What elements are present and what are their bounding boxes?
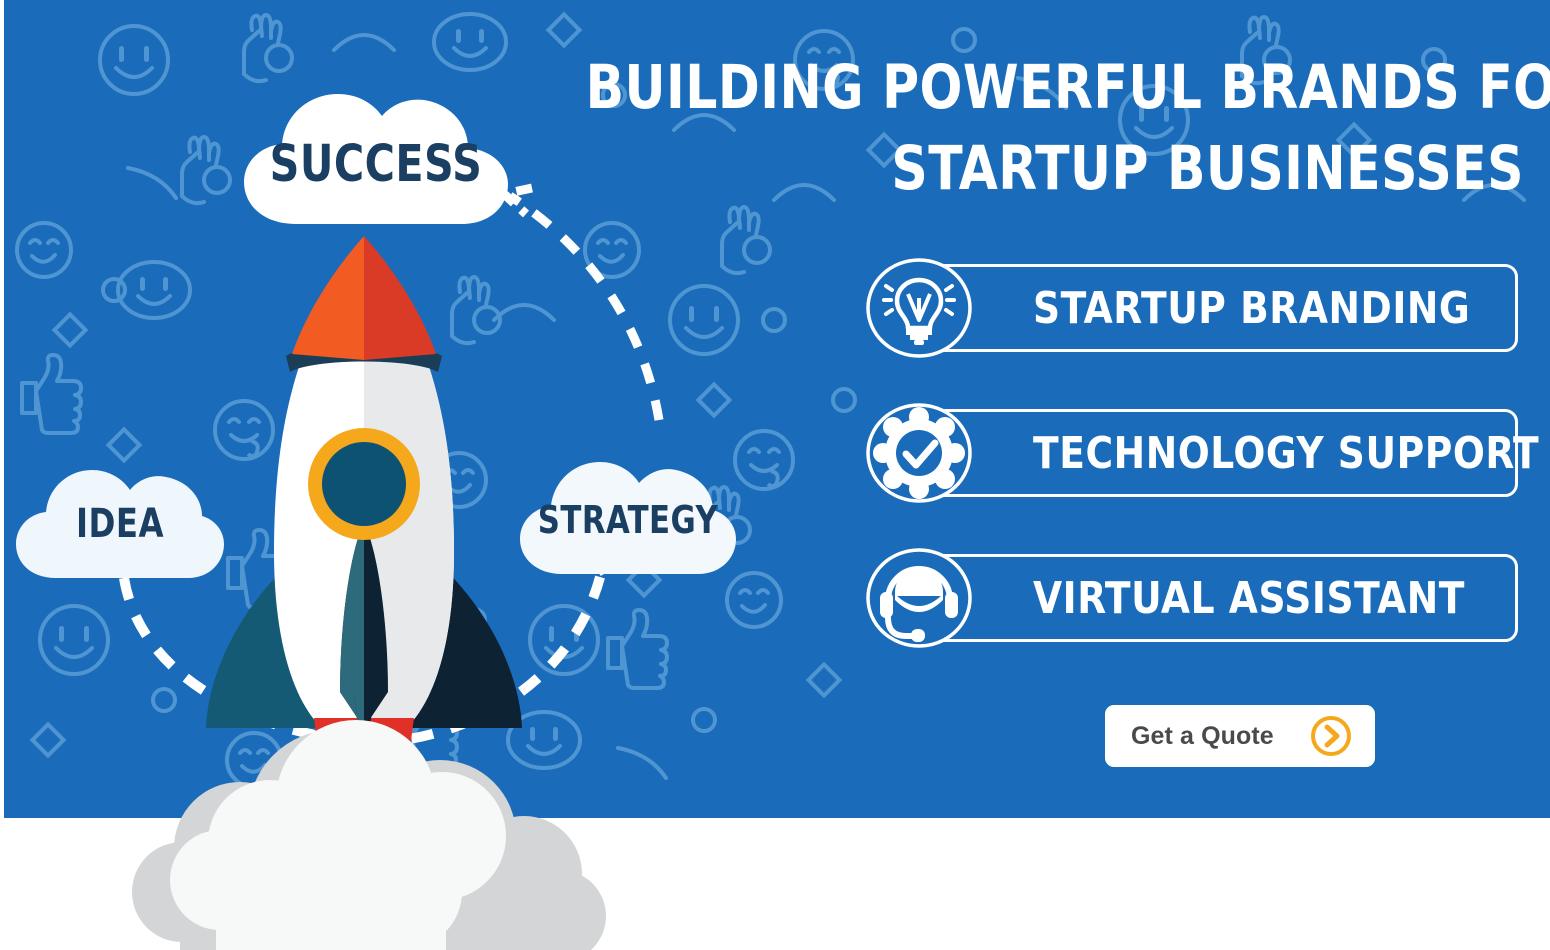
cloud-label-strategy: STRATEGY	[516, 444, 740, 586]
service-label: STARTUP BRANDING	[1033, 258, 1469, 358]
gear-check-icon	[858, 403, 980, 503]
get-a-quote-label: Get a Quote	[1131, 722, 1274, 751]
headset-icon	[858, 548, 980, 648]
cloud-label-text: SUCCESS	[254, 76, 499, 238]
headline-line-1: BUILDING POWERFUL BRANDS FOR	[586, 48, 1524, 129]
marketing-banner: SUCCESS IDEA STRATEGY	[0, 0, 1550, 950]
service-item-virtual-assistant[interactable]: VIRTUAL ASSISTANT	[858, 548, 1518, 648]
cloud-label-success: SUCCESS	[240, 76, 512, 238]
service-label: TECHNOLOGY SUPPORT	[1033, 403, 1469, 503]
service-label: VIRTUAL ASSISTANT	[1033, 548, 1469, 648]
service-item-startup-branding[interactable]: STARTUP BRANDING	[858, 258, 1518, 358]
chevron-right-circle-icon[interactable]	[1309, 714, 1353, 758]
get-a-quote-button[interactable]: Get a Quote	[1105, 705, 1375, 767]
lightbulb-icon	[858, 258, 980, 358]
page-title: BUILDING POWERFUL BRANDS FOR STARTUP BUS…	[586, 48, 1524, 209]
rocket-smoke-plume	[120, 630, 620, 950]
service-item-technology-support[interactable]: TECHNOLOGY SUPPORT	[858, 403, 1518, 503]
headline-line-2: STARTUP BUSINESSES	[586, 129, 1524, 210]
cloud-label-text: STRATEGY	[527, 444, 729, 586]
